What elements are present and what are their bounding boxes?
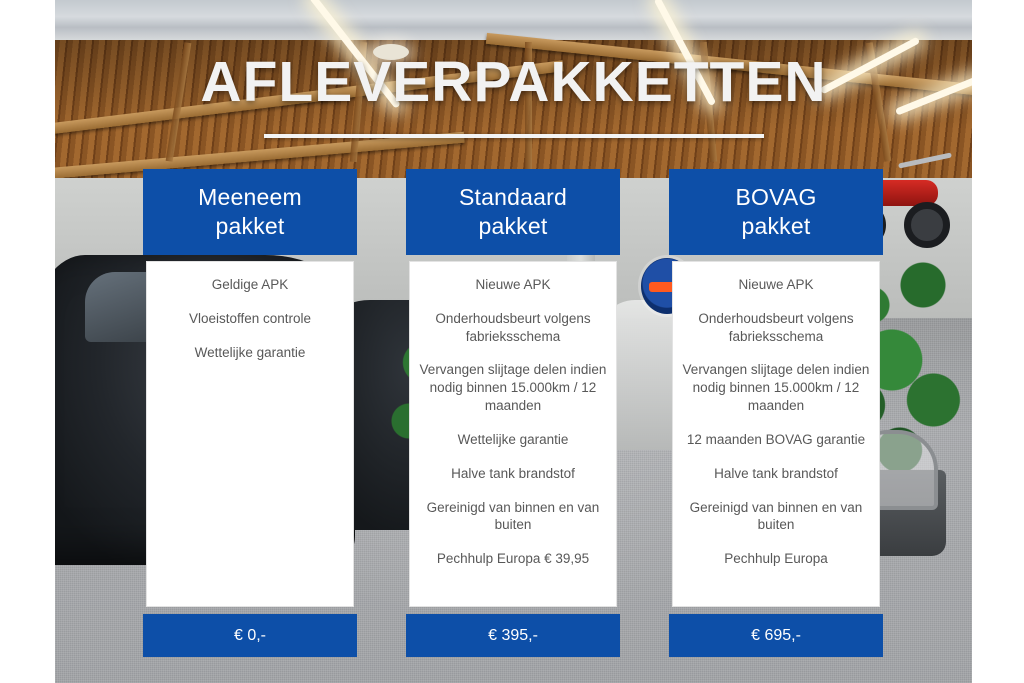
package-feature: Pechhulp Europa € 39,95 — [418, 550, 608, 568]
page-title: AFLEVERPAKKETTEN — [55, 54, 972, 111]
package-card-bovag[interactable]: BOVAG pakket Nieuwe APK Onderhoudsbeurt … — [669, 169, 883, 657]
package-title-line2: pakket — [459, 212, 567, 241]
package-feature-list: Geldige APK Vloeistoffen controle Wettel… — [146, 261, 354, 607]
package-feature: Wettelijke garantie — [418, 431, 608, 449]
package-feature-list: Nieuwe APK Onderhoudsbeurt volgens fabri… — [409, 261, 617, 607]
package-feature: Nieuwe APK — [418, 276, 608, 294]
package-card-standaard[interactable]: Standaard pakket Nieuwe APK Onderhoudsbe… — [406, 169, 620, 657]
package-feature: Wettelijke garantie — [155, 344, 345, 362]
package-card-meeneem[interactable]: Meeneem pakket Geldige APK Vloeistoffen … — [143, 169, 357, 657]
package-feature: Gereinigd van binnen en van buiten — [418, 499, 608, 535]
package-feature: Pechhulp Europa — [681, 550, 871, 568]
package-price-footer[interactable]: € 395,- — [406, 614, 620, 657]
package-feature: Nieuwe APK — [681, 276, 871, 294]
package-title-line1: Meeneem — [198, 183, 302, 212]
package-feature-list: Nieuwe APK Onderhoudsbeurt volgens fabri… — [672, 261, 880, 607]
title-underline — [264, 134, 764, 138]
title-block: AFLEVERPAKKETTEN — [55, 54, 972, 138]
package-card-header: Standaard pakket — [406, 169, 620, 255]
package-price-footer[interactable]: € 0,- — [143, 614, 357, 657]
package-title-line2: pakket — [198, 212, 302, 241]
package-feature: Gereinigd van binnen en van buiten — [681, 499, 871, 535]
package-feature: Vervangen slijtage delen indien nodig bi… — [681, 361, 871, 414]
slide-canvas: AFLEVERPAKKETTEN Meeneem pakket Geldige … — [0, 0, 1024, 683]
package-feature: Vervangen slijtage delen indien nodig bi… — [418, 361, 608, 414]
package-card-header: Meeneem pakket — [143, 169, 357, 255]
package-feature: Halve tank brandstof — [681, 465, 871, 483]
package-price-footer[interactable]: € 695,- — [669, 614, 883, 657]
package-title-line1: BOVAG — [735, 183, 816, 212]
package-feature: Geldige APK — [155, 276, 345, 294]
motorbike-wheel — [904, 202, 950, 248]
package-feature: Halve tank brandstof — [418, 465, 608, 483]
package-card-header: BOVAG pakket — [669, 169, 883, 255]
package-title-line1: Standaard — [459, 183, 567, 212]
motorbike-handlebar — [898, 152, 952, 168]
package-feature: Onderhoudsbeurt volgens fabrieksschema — [681, 310, 871, 346]
package-feature: Onderhoudsbeurt volgens fabrieksschema — [418, 310, 608, 346]
package-title-line2: pakket — [735, 212, 816, 241]
package-feature: 12 maanden BOVAG garantie — [681, 431, 871, 449]
package-feature: Vloeistoffen controle — [155, 310, 345, 328]
